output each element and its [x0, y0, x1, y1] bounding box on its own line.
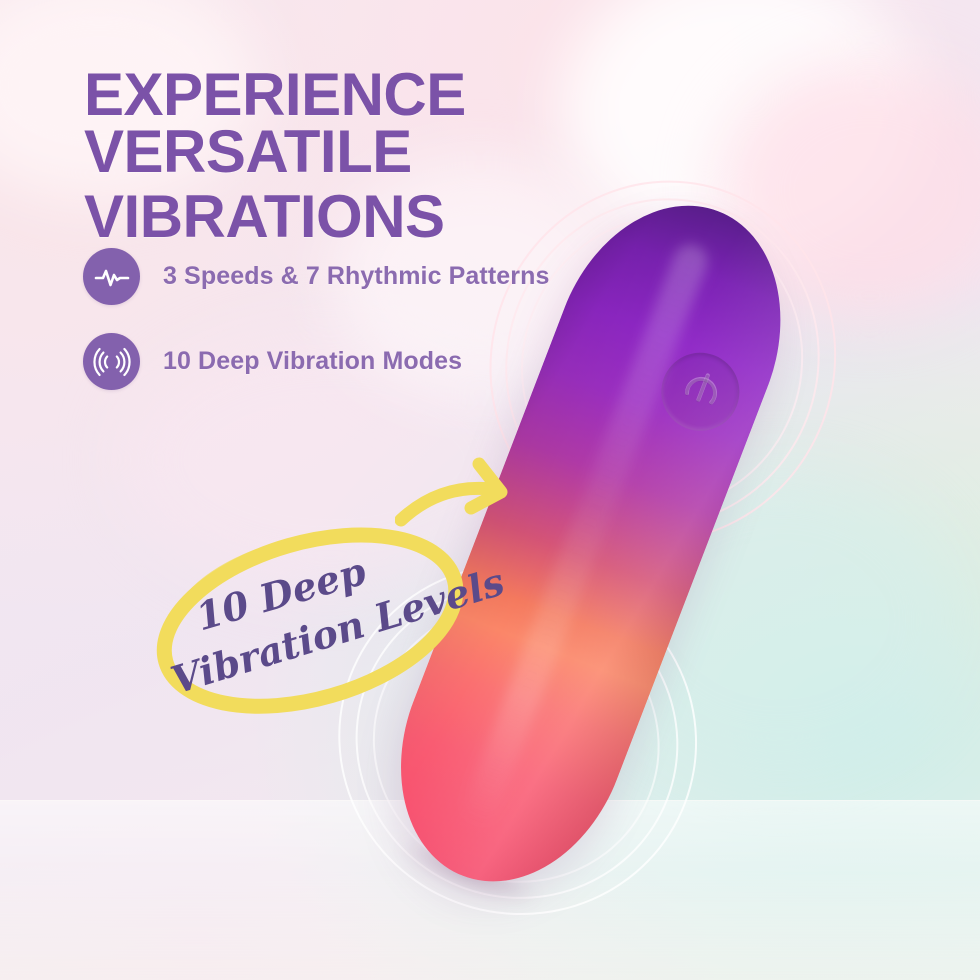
feature-label: 3 Speeds & 7 Rhythmic Patterns	[163, 262, 549, 291]
feature-list: 3 Speeds & 7 Rhythmic Patterns 10 Deep V…	[83, 248, 703, 418]
feature-row: 3 Speeds & 7 Rhythmic Patterns	[83, 248, 703, 305]
headline-line-2: VIBRATIONS	[84, 188, 804, 245]
pulse-wave-icon	[83, 248, 140, 305]
product-feature-banner: EXPERIENCE VERSATILE VIBRATIONS 3 Speeds…	[0, 0, 980, 980]
headline-line-1: EXPERIENCE VERSATILE	[84, 61, 466, 185]
vibration-waves-icon	[83, 333, 140, 390]
feature-row: 10 Deep Vibration Modes	[83, 333, 703, 390]
page-title: EXPERIENCE VERSATILE VIBRATIONS	[84, 66, 804, 245]
feature-label: 10 Deep Vibration Modes	[163, 347, 462, 376]
